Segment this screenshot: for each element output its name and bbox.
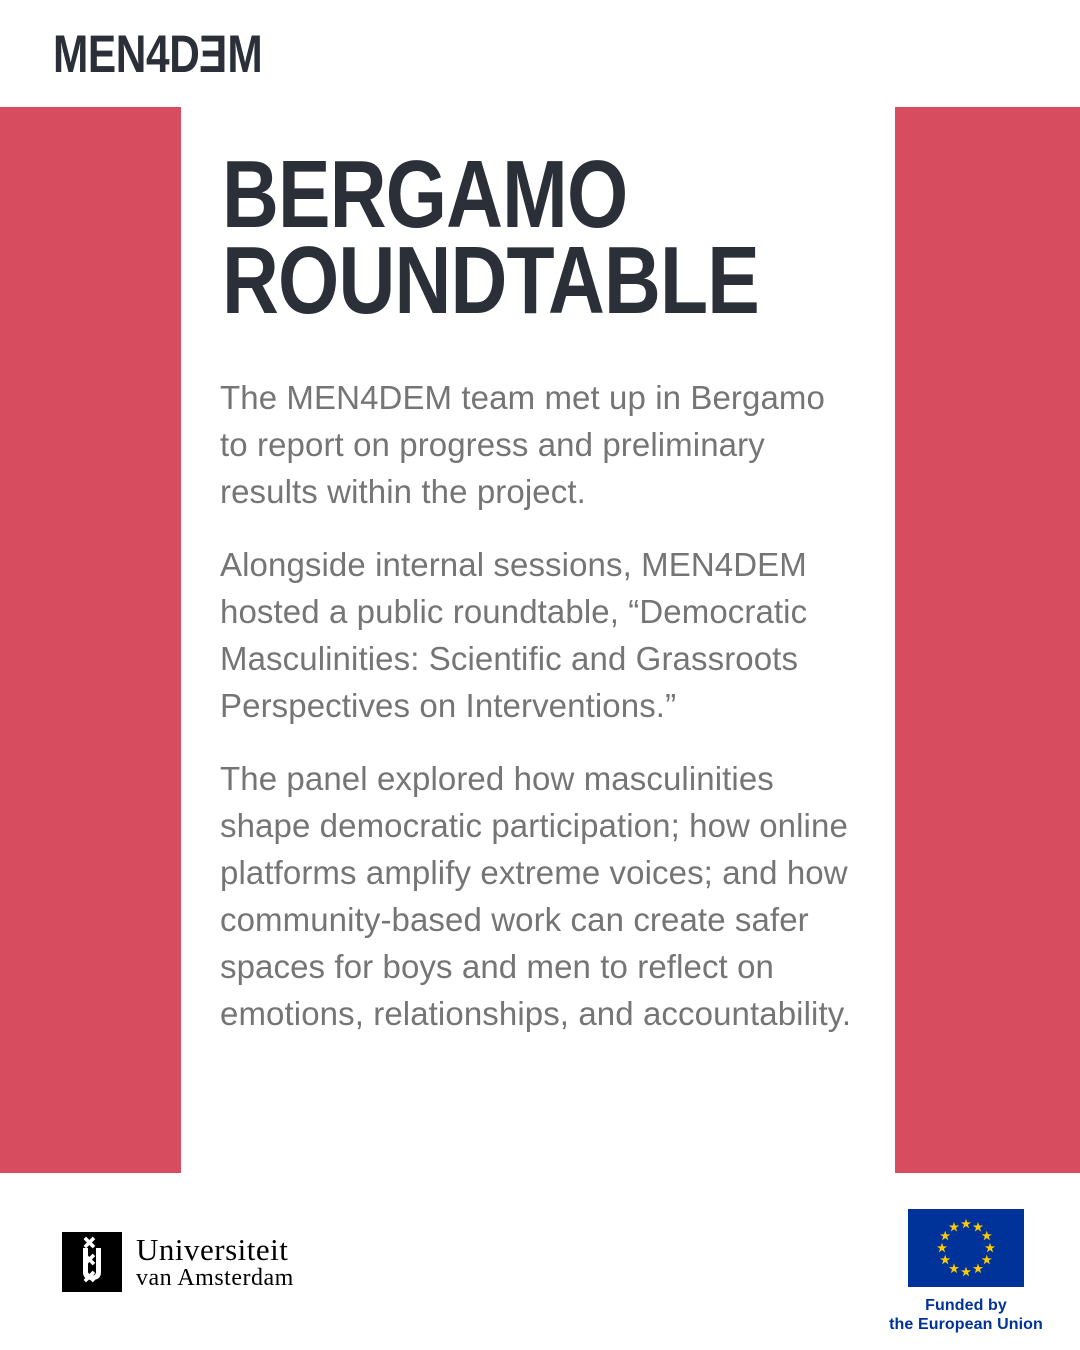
university-name: Universiteit van Amsterdam bbox=[136, 1234, 294, 1290]
university-name-line-2: van Amsterdam bbox=[136, 1266, 294, 1290]
paragraph-2: Alongside internal sessions, MEN4DEM hos… bbox=[220, 541, 860, 729]
paragraph-3: The panel explored how masculinities sha… bbox=[220, 755, 860, 1037]
university-of-amsterdam-logo: Universiteit van Amsterdam bbox=[62, 1232, 294, 1292]
wordmark-part-1: MEN4D bbox=[53, 28, 199, 81]
red-panel-left bbox=[0, 107, 181, 1173]
paragraph-1: The MEN4DEM team met up in Bergamo to re… bbox=[220, 374, 860, 515]
body-copy: The MEN4DEM team met up in Bergamo to re… bbox=[220, 374, 860, 1037]
eu-funding-caption: Funded by the European Union bbox=[884, 1296, 1048, 1334]
men4dem-logo: MEN4DEM bbox=[53, 28, 315, 80]
european-union-flag-icon bbox=[908, 1209, 1024, 1287]
headline-line-1: BERGAMO bbox=[222, 152, 763, 238]
wordmark-part-2: M bbox=[227, 28, 262, 81]
page-title: BERGAMO ROUNDTABLE bbox=[222, 152, 882, 324]
amsterdam-coat-of-arms-icon bbox=[62, 1232, 122, 1292]
eu-caption-line-2: the European Union bbox=[884, 1315, 1048, 1334]
university-name-line-1: Universiteit bbox=[136, 1234, 294, 1266]
headline-line-2: ROUNDTABLE bbox=[222, 238, 763, 324]
eu-funding-logo: Funded by the European Union bbox=[884, 1209, 1048, 1334]
men4dem-wordmark: MEN4DEM bbox=[53, 28, 262, 81]
wordmark-reversed-e: E bbox=[199, 28, 227, 81]
poster-canvas: MEN4DEM BERGAMO ROUNDTABLE The MEN4DEM t… bbox=[0, 0, 1080, 1350]
eu-caption-line-1: Funded by bbox=[884, 1296, 1048, 1315]
red-panel-right bbox=[895, 107, 1080, 1173]
